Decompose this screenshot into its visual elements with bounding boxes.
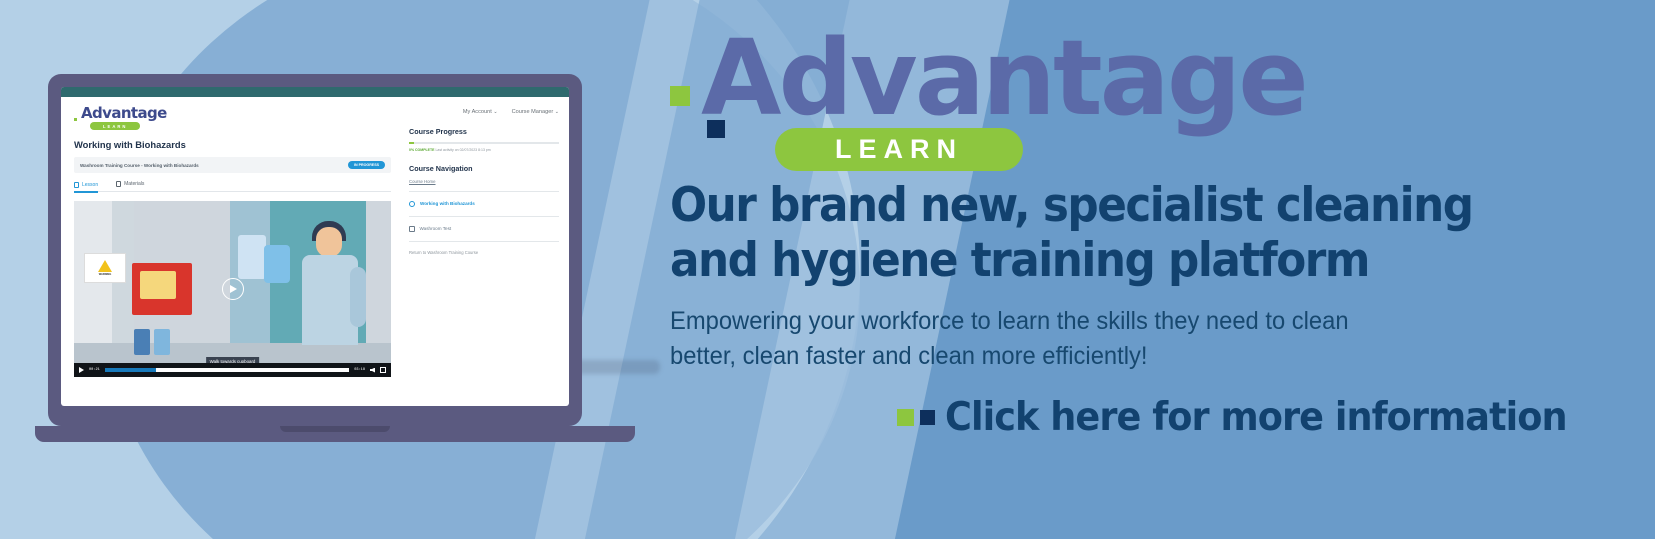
app-brand-word: Advantage <box>81 106 167 121</box>
breadcrumb[interactable]: Washroom Training Course - Working with … <box>80 163 199 168</box>
tab-materials-label: Materials <box>124 181 144 187</box>
page-title: Working with Biohazards <box>74 139 391 150</box>
status-badge: IN PROGRESS <box>348 161 385 169</box>
nav-item-working-with-biohazards[interactable]: Working with Biohazards <box>409 197 559 211</box>
video-player[interactable]: WARNING Walk towa <box>74 201 391 377</box>
course-progress-meta: 0% COMPLETE Last activity on 02/07/2023 … <box>409 148 559 152</box>
laptop-screen: Advantage LEARN Working with Biohazards … <box>61 87 569 406</box>
warning-label: WARNING <box>99 273 112 276</box>
cta-link[interactable]: Click here for more information <box>897 395 1655 440</box>
app-navigation: My Account ⌄ Course Manager ⌄ <box>409 106 559 115</box>
app-top-bar <box>61 87 569 97</box>
bottle-1 <box>134 329 150 355</box>
video-progress-track[interactable] <box>105 368 349 372</box>
tab-lesson[interactable]: Lesson <box>74 181 98 193</box>
divider <box>409 191 559 192</box>
fullscreen-icon[interactable] <box>380 367 386 373</box>
logo-square-green-icon <box>670 86 690 106</box>
app-brand-badge: LEARN <box>90 122 140 130</box>
divider <box>409 216 559 217</box>
cta-square-green-icon <box>897 409 914 426</box>
course-home-link[interactable]: Course Home <box>409 179 559 184</box>
volume-icon[interactable] <box>370 368 375 373</box>
tab-lesson-label: Lesson <box>82 182 98 188</box>
cta-square-navy-icon <box>920 410 935 425</box>
breadcrumb-bar: Washroom Training Course - Working with … <box>74 157 391 173</box>
laptop-base <box>35 426 635 442</box>
course-navigation-title: Course Navigation <box>409 164 559 173</box>
marketing-content: Advantage LEARN Our brand new, specialis… <box>665 0 1655 539</box>
nav-my-account[interactable]: My Account ⌄ <box>463 109 498 115</box>
content-tabs: Lesson Materials <box>74 181 391 192</box>
course-progress-bar <box>409 142 559 144</box>
return-to-course-link[interactable]: Return to Washroom Training Course <box>409 250 559 255</box>
circle-icon <box>409 201 415 207</box>
laptop-mockup: Advantage LEARN Working with Biohazards … <box>48 74 582 442</box>
person-head <box>316 227 342 257</box>
nav-item-washroom-test[interactable]: Washroom Test <box>409 222 559 237</box>
video-progress-fill <box>105 368 156 372</box>
brand-square-green-icon <box>74 118 77 121</box>
nav-item-label: Washroom Test <box>420 226 452 231</box>
video-play-overlay-button[interactable] <box>222 278 244 300</box>
chevron-down-icon: ⌄ <box>493 109 497 115</box>
video-current-time: 00:21 <box>89 368 100 372</box>
jug-2 <box>264 245 290 283</box>
headline-line-2: and hygiene training platform <box>670 233 1586 288</box>
course-progress-percent: 0% COMPLETE <box>409 148 434 152</box>
laptop-body: Advantage LEARN Working with Biohazards … <box>48 74 582 426</box>
course-progress-last-activity: Last activity on 02/07/2023 8:13 pm <box>435 148 490 152</box>
lesson-icon <box>74 182 79 188</box>
nav-course-manager[interactable]: Course Manager ⌄ <box>512 109 559 115</box>
advantage-learn-banner: Advantage LEARN Working with Biohazards … <box>0 0 1655 539</box>
person-arm <box>350 267 366 327</box>
nav-item-label: Working with Biohazards <box>420 201 475 206</box>
subtext-line-1: Empowering your workforce to learn the s… <box>670 305 1606 338</box>
subtext-line-2: better, clean faster and clean more effi… <box>670 340 1606 373</box>
headline-line-1: Our brand new, specialist cleaning <box>670 178 1586 233</box>
quiz-icon <box>409 226 415 233</box>
bottle-2 <box>154 329 170 355</box>
red-cabinet <box>132 263 192 315</box>
cta-label: Click here for more information <box>945 395 1567 440</box>
logo-learn-badge: LEARN <box>775 128 1023 171</box>
jug-1 <box>238 235 266 279</box>
app-brand-logo: Advantage LEARN <box>74 106 391 130</box>
materials-icon <box>116 181 121 187</box>
logo-wordmark: Advantage <box>701 26 1306 130</box>
course-progress-title: Course Progress <box>409 127 559 136</box>
video-duration: 03:18 <box>354 368 365 372</box>
video-controls: 00:21 03:18 <box>74 363 391 377</box>
tab-materials[interactable]: Materials <box>116 181 144 187</box>
advantage-learn-logo: Advantage LEARN <box>665 0 1655 178</box>
chevron-down-icon: ⌄ <box>555 109 559 115</box>
divider <box>409 241 559 242</box>
play-icon[interactable] <box>79 367 84 373</box>
warning-sign-icon: WARNING <box>84 253 126 283</box>
